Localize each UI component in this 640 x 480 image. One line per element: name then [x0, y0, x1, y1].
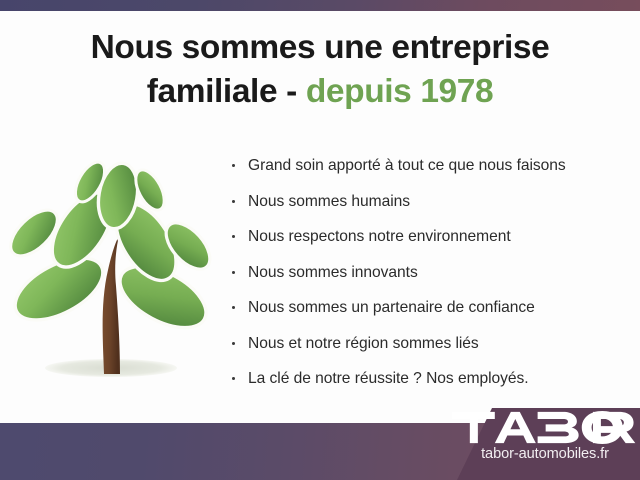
list-item: Nous sommes un partenaire de confiance — [228, 290, 628, 326]
presentation-slide: Nous sommes une entreprise familiale -de… — [0, 0, 640, 480]
list-item-label: Nous sommes innovants — [248, 264, 418, 281]
bullet-dot-icon — [232, 342, 235, 345]
list-item: Nous sommes innovants — [228, 255, 628, 291]
brand-url: tabor-automobiles.fr — [452, 446, 638, 462]
bullet-dot-icon — [232, 377, 235, 380]
brand-block: tabor-automobiles.fr — [452, 411, 638, 462]
bullet-dot-icon — [232, 200, 235, 203]
bullet-dot-icon — [232, 306, 235, 309]
headline-line-2-black: familiale - — [147, 73, 297, 110]
tabor-logo — [452, 411, 639, 444]
list-item: Nous et notre région sommes liés — [228, 326, 628, 362]
headline-line-2: familiale -depuis 1978 — [0, 70, 640, 115]
bullet-dot-icon — [232, 271, 235, 274]
list-item: Nous sommes humains — [228, 184, 628, 220]
list-item: Nous respectons notre environnement — [228, 219, 628, 255]
list-item-label: La clé de notre réussite ? Nos employés. — [248, 370, 529, 387]
list-item-label: Nous et notre région sommes liés — [248, 335, 479, 352]
headline-line-1: Nous sommes une entreprise — [91, 29, 550, 66]
tree-icon — [8, 146, 218, 400]
headline-line-2-green: depuis 1978 — [306, 73, 493, 110]
bullet-dot-icon — [232, 164, 235, 167]
top-accent-bar — [0, 0, 640, 11]
value-proposition-list: Grand soin apporté à tout ce que nous fa… — [228, 148, 628, 397]
list-item-label: Nous respectons notre environnement — [248, 228, 511, 245]
list-item: La clé de notre réussite ? Nos employés. — [228, 361, 628, 397]
list-item-label: Nous sommes humains — [248, 193, 410, 210]
page-title: Nous sommes une entreprise familiale -de… — [0, 26, 640, 115]
list-item-label: Grand soin apporté à tout ce que nous fa… — [248, 157, 566, 174]
list-item-label: Nous sommes un partenaire de confiance — [248, 299, 535, 316]
bullet-dot-icon — [232, 235, 235, 238]
list-item: Grand soin apporté à tout ce que nous fa… — [228, 148, 628, 184]
tree-trunk — [103, 236, 120, 374]
